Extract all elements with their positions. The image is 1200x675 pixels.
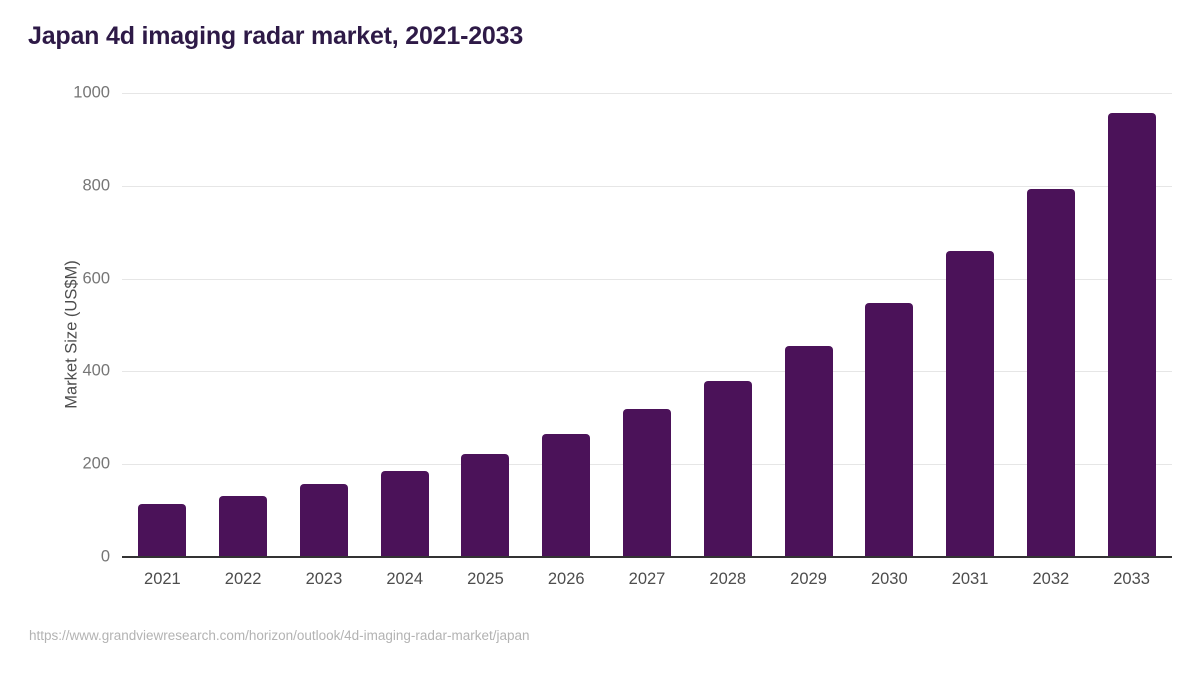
source-url: https://www.grandviewresearch.com/horizo… — [29, 628, 529, 643]
bar-2023[interactable] — [300, 484, 348, 557]
y-tick-label-600: 600 — [50, 269, 110, 288]
y-tick-label-1000: 1000 — [50, 84, 110, 103]
bar-2032[interactable] — [1027, 189, 1075, 557]
x-tick-label-2033: 2033 — [1087, 570, 1177, 589]
x-axis-line — [122, 556, 1172, 558]
bar-2025[interactable] — [461, 454, 509, 557]
bar-2026[interactable] — [542, 434, 590, 557]
bar-2031[interactable] — [946, 251, 994, 557]
x-tick-label-2026: 2026 — [521, 570, 611, 589]
x-tick-label-2022: 2022 — [198, 570, 288, 589]
bar-2021[interactable] — [138, 504, 186, 557]
bar-2030[interactable] — [865, 303, 913, 557]
x-tick-label-2032: 2032 — [1006, 570, 1096, 589]
y-tick-label-200: 200 — [50, 455, 110, 474]
x-tick-label-2031: 2031 — [925, 570, 1015, 589]
x-tick-label-2029: 2029 — [764, 570, 854, 589]
gridline-600 — [122, 279, 1172, 280]
x-tick-label-2024: 2024 — [360, 570, 450, 589]
bar-2024[interactable] — [381, 471, 429, 557]
gridline-1000 — [122, 93, 1172, 94]
plot-area — [122, 93, 1172, 557]
bar-2029[interactable] — [785, 346, 833, 557]
gridline-800 — [122, 186, 1172, 187]
x-tick-label-2023: 2023 — [279, 570, 369, 589]
bar-2027[interactable] — [623, 409, 671, 557]
y-axis-tick-labels: Market Size (US$M) 02004006008001000 — [40, 0, 110, 675]
y-tick-label-0: 0 — [50, 548, 110, 567]
x-tick-label-2021: 2021 — [117, 570, 207, 589]
bar-2033[interactable] — [1108, 113, 1156, 557]
y-tick-label-800: 800 — [50, 176, 110, 195]
chart-figure: Japan 4d imaging radar market, 2021-2033… — [0, 0, 1200, 675]
x-tick-label-2030: 2030 — [844, 570, 934, 589]
y-tick-label-400: 400 — [50, 362, 110, 381]
bar-2022[interactable] — [219, 496, 267, 557]
x-tick-label-2025: 2025 — [440, 570, 530, 589]
gridline-400 — [122, 371, 1172, 372]
x-tick-label-2028: 2028 — [683, 570, 773, 589]
bar-2028[interactable] — [704, 381, 752, 557]
x-tick-label-2027: 2027 — [602, 570, 692, 589]
